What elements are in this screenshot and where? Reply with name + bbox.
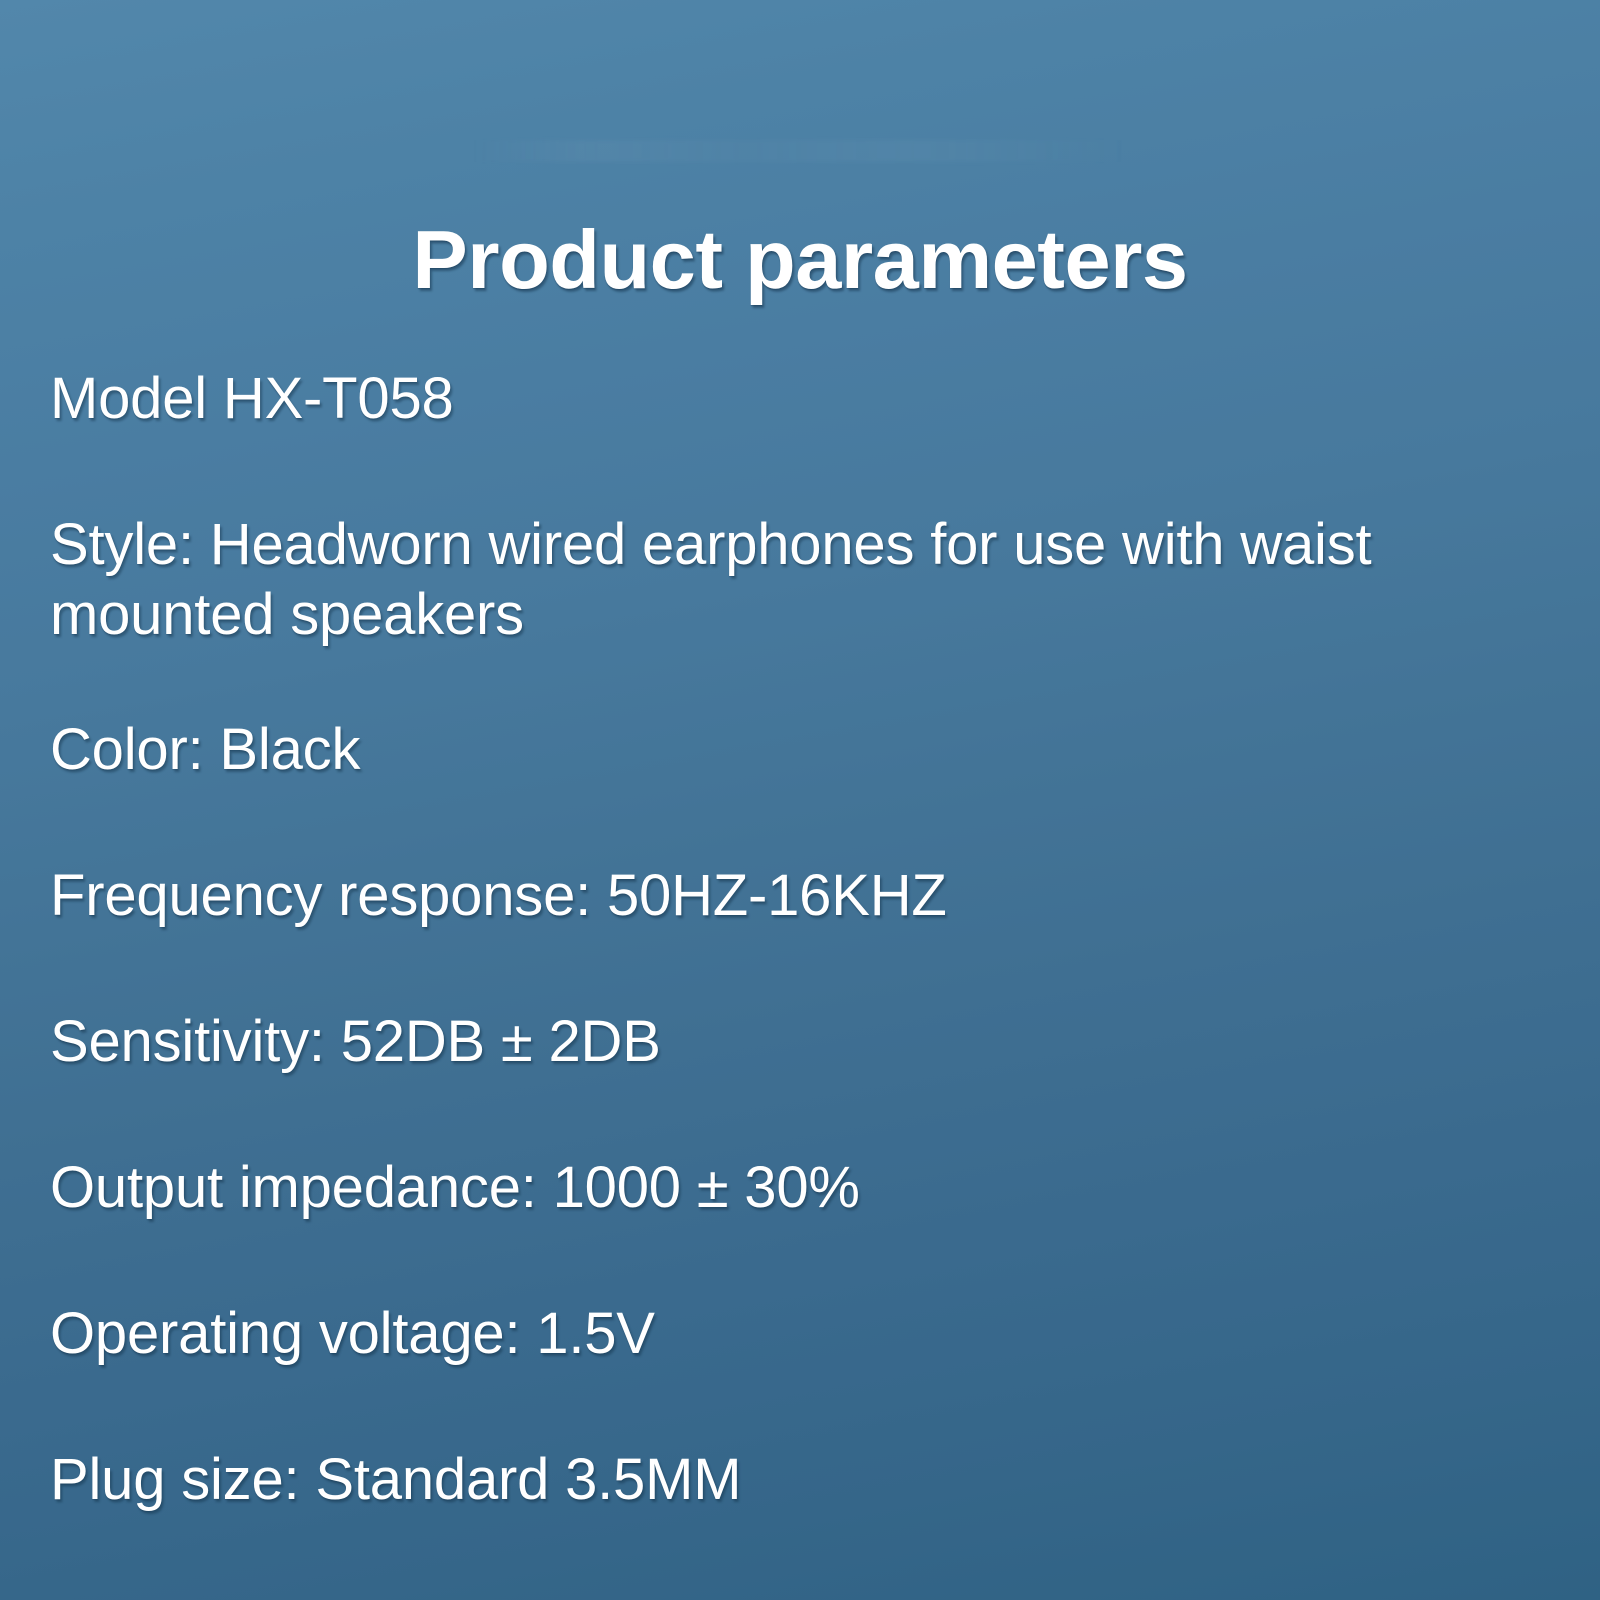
- spec-item-sensitivity: Sensitivity: 52DB ± 2DB: [50, 1007, 1550, 1077]
- spec-item-operating-voltage: Operating voltage: 1.5V: [50, 1299, 1550, 1369]
- background-artifact-band: [470, 140, 1130, 162]
- specification-list: Model HX-T058 Style: Headworn wired earp…: [50, 364, 1550, 1516]
- spec-item-color: Color: Black: [50, 715, 1550, 785]
- spec-item-model: Model HX-T058: [50, 364, 1550, 434]
- spec-item-style: Style: Headworn wired earphones for use …: [50, 510, 1550, 650]
- spec-item-frequency-response: Frequency response: 50HZ-16KHZ: [50, 861, 1550, 931]
- spec-item-output-impedance: Output impedance: 1000 ± 30%: [50, 1153, 1550, 1223]
- spec-item-plug-size: Plug size: Standard 3.5MM: [50, 1445, 1550, 1515]
- product-parameters-page: Product parameters Model HX-T058 Style: …: [0, 0, 1600, 1600]
- page-title: Product parameters: [0, 216, 1600, 303]
